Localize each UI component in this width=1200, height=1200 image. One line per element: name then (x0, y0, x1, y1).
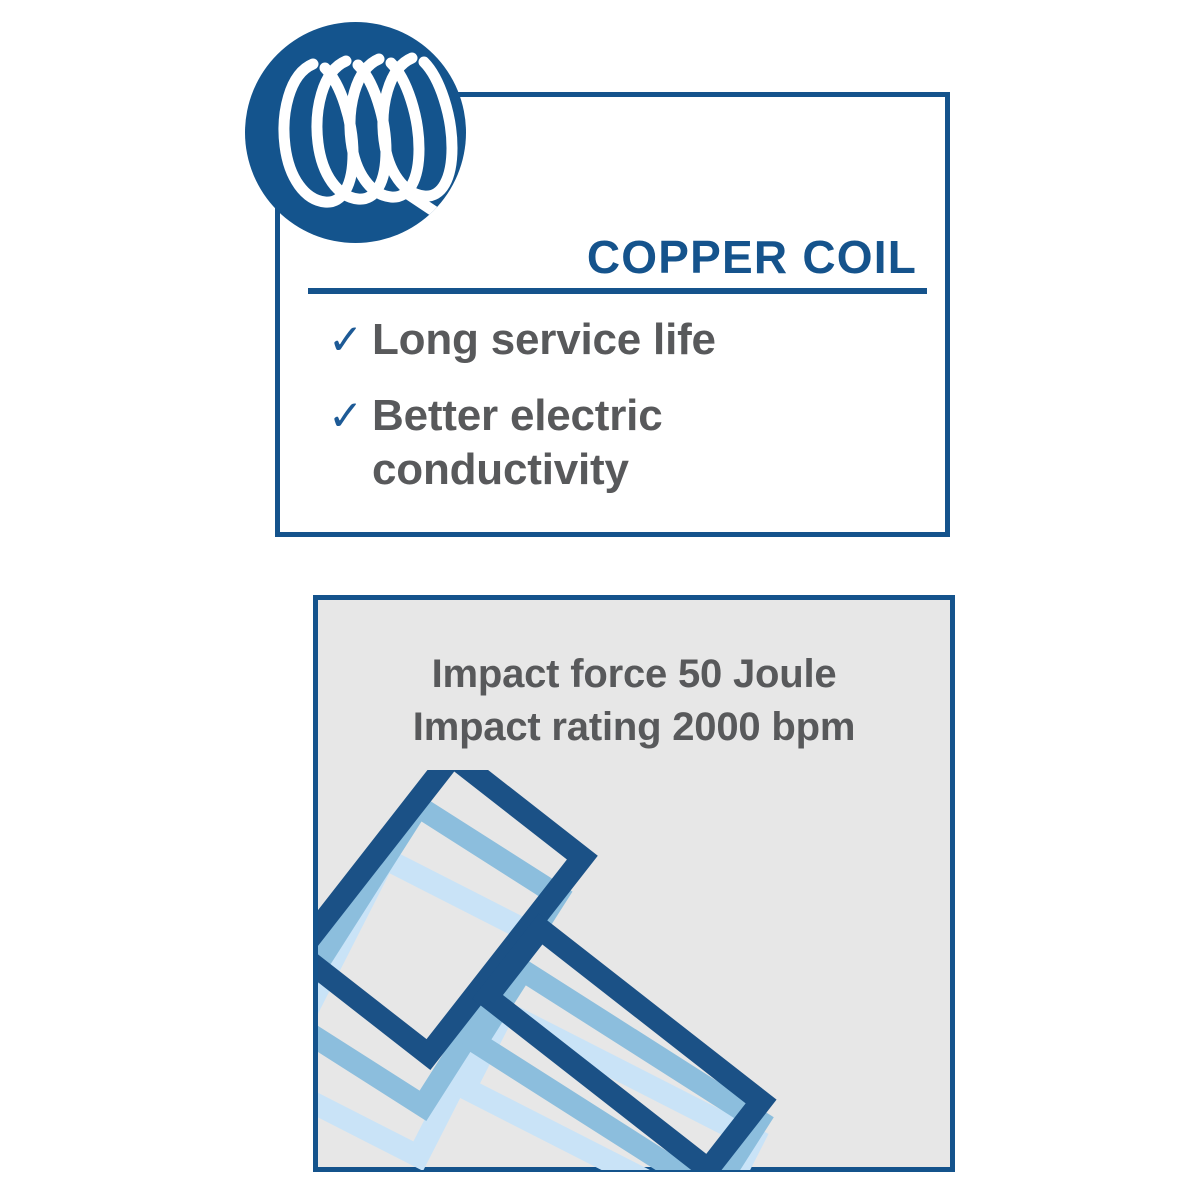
impact-rating-line: Impact rating 2000 bpm (318, 701, 950, 754)
benefit-label: Long service life (372, 313, 921, 367)
title-divider (308, 288, 927, 294)
list-item: ✓ Long service life (328, 313, 921, 367)
benefit-list: ✓ Long service life ✓ Better electric co… (328, 313, 921, 519)
check-icon: ✓ (328, 313, 372, 367)
list-item: ✓ Better electric conductivity (328, 389, 921, 497)
check-icon: ✓ (328, 389, 372, 443)
hammer-motion-icon (318, 770, 950, 1170)
benefit-label: Better electric conductivity (372, 389, 921, 497)
impact-force-line: Impact force 50 Joule (318, 648, 950, 701)
copper-coil-icon (245, 22, 466, 243)
impact-spec-text: Impact force 50 Joule Impact rating 2000… (318, 648, 950, 754)
impact-spec-panel: Impact force 50 Joule Impact rating 2000… (313, 595, 955, 1172)
